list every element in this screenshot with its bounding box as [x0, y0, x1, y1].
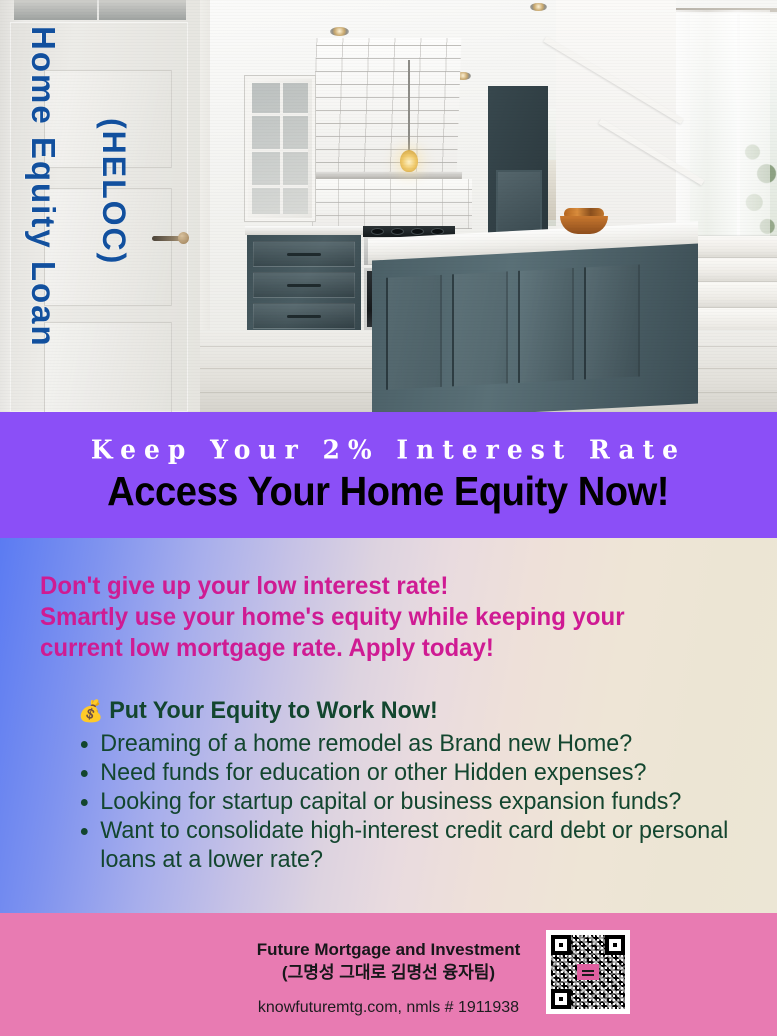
heloc-flyer: Home Equity Loan (HELOC) Keep Your 2% In… — [0, 0, 777, 1036]
lead-line-1: Don't give up your low interest rate! — [40, 571, 712, 602]
lead-paragraph: Don't give up your low interest rate! Sm… — [40, 571, 712, 664]
qr-code-matrix — [551, 935, 625, 1009]
company-name: Future Mortgage and Investment — [0, 938, 777, 961]
benefits-heading: 💰 Put Your Equity to Work Now! — [78, 696, 747, 726]
qr-finder-top-left — [551, 935, 571, 955]
qr-center-logo — [577, 964, 599, 980]
pendant-bulb-icon — [400, 150, 418, 172]
recessed-light-icon — [530, 3, 547, 11]
lead-line-3: current low mortgage rate. Apply today! — [40, 633, 712, 664]
money-bag-icon: 💰 — [78, 701, 103, 722]
lead-line-2: Smartly use your home's equity while kee… — [40, 602, 712, 633]
company-name-korean: (그명성 그대로 김명선 융자팀) — [0, 961, 777, 985]
range-hood-lip — [310, 172, 462, 179]
vertical-subtitle-heloc: (HELOC) — [95, 118, 132, 265]
qr-finder-top-right — [605, 935, 625, 955]
footer-band: Future Mortgage and Investment (그명성 그대로 … — [0, 913, 777, 1036]
benefits-heading-label: Put Your Equity to Work Now! — [109, 696, 438, 726]
hero-kitchen-photo: Home Equity Loan (HELOC) — [0, 0, 777, 412]
list-item: Need funds for education or other Hidden… — [78, 758, 747, 787]
door-transom-window — [14, 0, 186, 20]
footer-contact-block: Future Mortgage and Investment (그명성 그대로 … — [0, 938, 777, 1019]
list-item: Looking for startup capital or business … — [78, 787, 747, 816]
kitchen-island — [372, 243, 698, 412]
door-knob — [178, 232, 189, 244]
benefits-block: 💰 Put Your Equity to Work Now! Dreaming … — [78, 696, 768, 874]
left-countertop — [245, 226, 363, 235]
purple-headline-banner: Keep Your 2% Interest Rate Access Your H… — [0, 412, 777, 538]
tall-cabinet-door — [496, 170, 542, 238]
subway-tile-backsplash — [312, 179, 472, 229]
list-item: Dreaming of a home remodel as Brand new … — [78, 729, 747, 758]
qr-finder-bottom-left — [551, 989, 571, 1009]
contact-line: knowfuturemtg.com, nmls # 1911938 — [0, 997, 777, 1019]
banner-headline-text: Access Your Home Equity Now! — [108, 468, 670, 515]
banner-kicker-text: Keep Your 2% Interest Rate — [91, 434, 686, 464]
qr-code[interactable] — [546, 930, 630, 1014]
benefits-list: Dreaming of a home remodel as Brand new … — [78, 729, 768, 874]
range-hood-tile — [312, 38, 462, 176]
pendant-cord — [408, 60, 410, 152]
body-section: Don't give up your low interest rate! Sm… — [0, 538, 777, 913]
vertical-title-home-equity-loan: Home Equity Loan — [24, 26, 62, 348]
glass-front-cabinet — [245, 76, 315, 221]
list-item: Want to consolidate high-interest credit… — [78, 816, 747, 874]
recessed-light-icon — [330, 27, 349, 36]
left-lower-cabinets — [247, 235, 361, 335]
